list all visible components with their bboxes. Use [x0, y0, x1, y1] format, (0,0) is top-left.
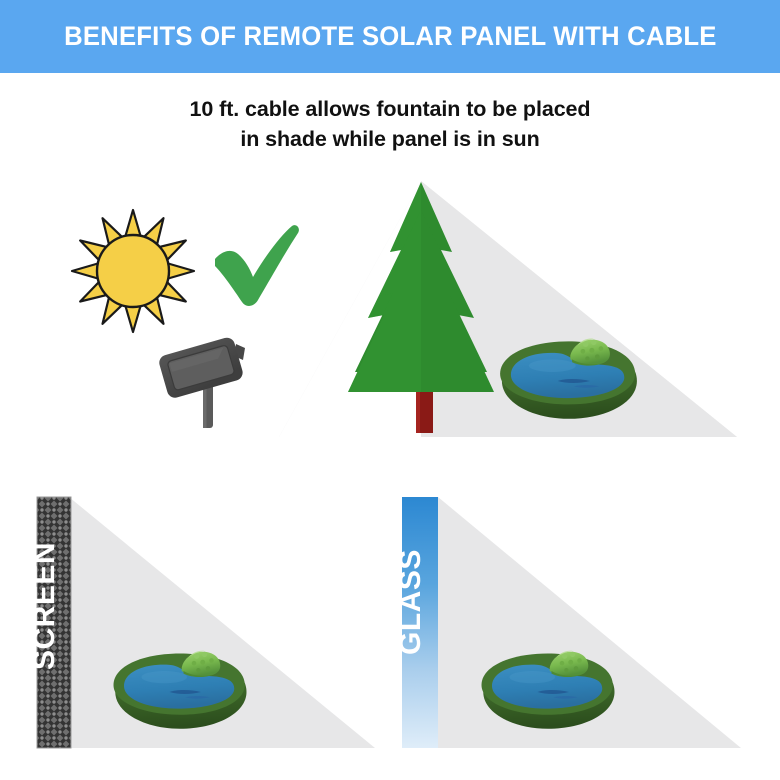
- shadow-triangle-screen: [69, 497, 375, 748]
- panel-sun-solar: [72, 210, 299, 428]
- panel-tree-shade-fountain: [279, 181, 737, 437]
- panel-screen-shade-fountain: SCREEN: [28, 497, 375, 748]
- fountain-bowl-icon-glass: [482, 651, 615, 729]
- screen-barrier: [37, 497, 71, 748]
- shadow-triangle-tree: [279, 181, 737, 437]
- tree-trunk: [416, 355, 433, 433]
- sun-icon: [72, 210, 194, 332]
- glass-barrier: [402, 497, 438, 748]
- pine-tree-icon: [348, 182, 494, 392]
- subtitle-line-1: 10 ft. cable allows fountain to be place…: [190, 97, 591, 121]
- solar-panel-icon: [157, 336, 245, 428]
- subtitle: 10 ft. cable allows fountain to be place…: [0, 94, 780, 154]
- fountain-bowl-icon-screen: [114, 651, 247, 729]
- subtitle-line-2: in shade while panel is in sun: [0, 124, 780, 154]
- header-bar: BENEFITS OF REMOTE SOLAR PANEL WITH CABL…: [0, 0, 780, 73]
- shadow-triangle-glass: [438, 497, 741, 748]
- panel-glass-shade-fountain: GLASS: [394, 497, 741, 748]
- glass-label: GLASS: [394, 549, 427, 655]
- green-checkmark-icon: [215, 225, 299, 306]
- fountain-bowl-icon: [500, 339, 637, 419]
- screen-label: SCREEN: [28, 542, 61, 670]
- page-title: BENEFITS OF REMOTE SOLAR PANEL WITH CABL…: [64, 21, 716, 52]
